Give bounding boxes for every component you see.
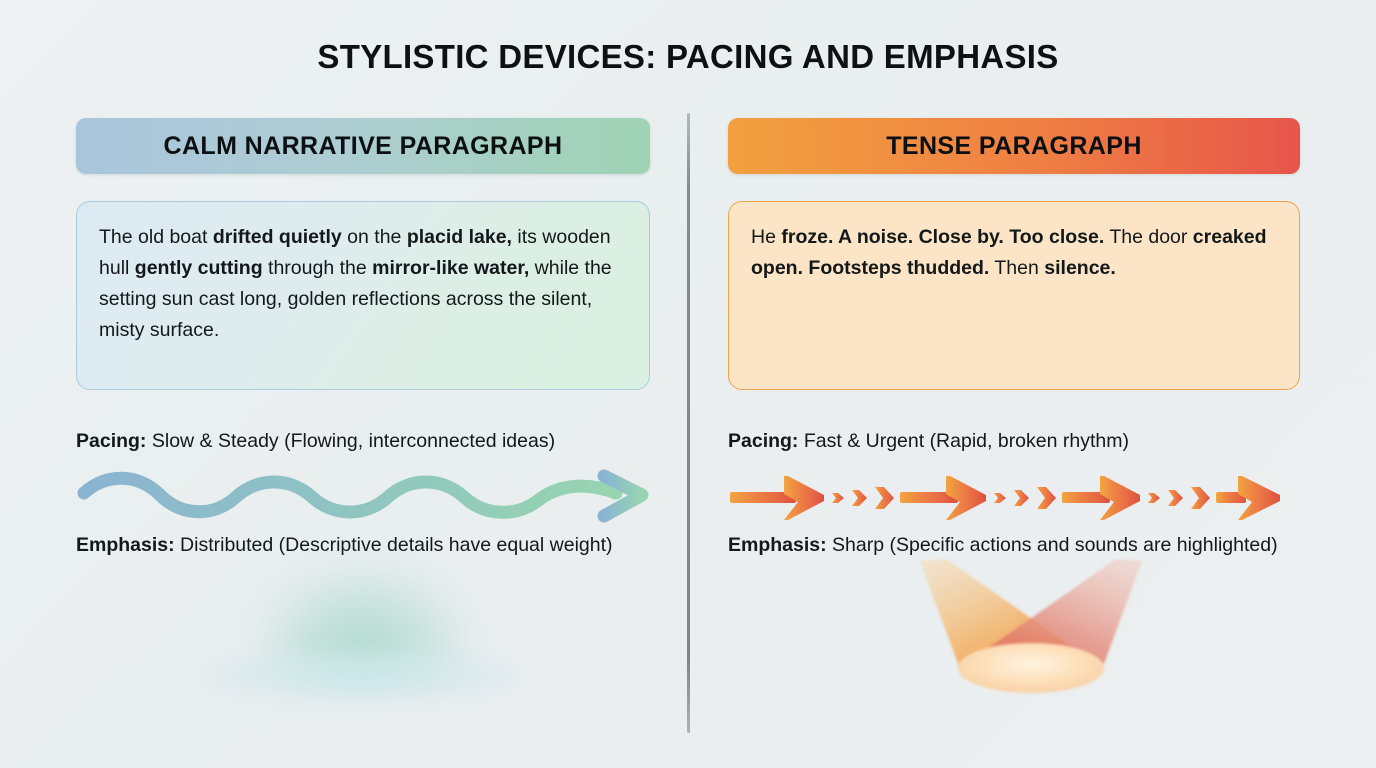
tense-banner: TENSE PARAGRAPH xyxy=(728,118,1300,174)
calm-pacing-label: Pacing: xyxy=(76,430,146,452)
calm-paragraph-text: The old boat drifted quietly on the plac… xyxy=(99,226,612,341)
staccato-arrows-icon xyxy=(728,468,1288,530)
calm-pacing-line: Pacing: Slow & Steady (Flowing, intercon… xyxy=(76,426,650,457)
tense-banner-label: TENSE PARAGRAPH xyxy=(886,132,1142,161)
calm-paragraph-box: The old boat drifted quietly on the plac… xyxy=(76,201,650,390)
emphasized-text: drifted quietly xyxy=(213,226,342,248)
emphasized-text: placid lake, xyxy=(407,226,512,248)
tense-pacing-value: Fast & Urgent (Rapid, broken rhythm) xyxy=(798,430,1129,452)
tense-column: TENSE PARAGRAPH He froze. A noise. Close… xyxy=(728,118,1300,704)
emphasized-text: silence. xyxy=(1044,257,1116,279)
column-divider xyxy=(687,113,690,733)
calm-emphasis-value: Distributed (Descriptive details have eq… xyxy=(175,534,613,556)
tense-paragraph-box: He froze. A noise. Close by. Too close. … xyxy=(728,201,1300,390)
plain-text: Then xyxy=(989,257,1044,279)
plain-text: through the xyxy=(263,257,373,279)
calm-emphasis-line: Emphasis: Distributed (Descriptive detai… xyxy=(76,530,650,561)
plain-text: He xyxy=(751,226,781,248)
calm-column: CALM NARRATIVE PARAGRAPH The old boat dr… xyxy=(76,118,650,704)
emphasized-text: mirror-like water, xyxy=(372,257,529,279)
plain-text: The old boat xyxy=(99,226,213,248)
spotlight-cones-icon xyxy=(906,553,1156,705)
tense-emphasis-graphic xyxy=(728,569,1300,704)
emphasized-text: froze. A noise. Close by. Too close. xyxy=(781,226,1104,248)
tense-pacing-graphic xyxy=(728,468,1300,530)
wave-arrow-icon xyxy=(76,468,650,530)
calm-pacing-value: Slow & Steady (Flowing, interconnected i… xyxy=(146,430,555,452)
tense-emphasis-label: Emphasis: xyxy=(728,534,827,556)
diffuse-glow-icon xyxy=(208,561,518,711)
calm-emphasis-graphic xyxy=(76,569,650,704)
tense-pacing-label: Pacing: xyxy=(728,430,798,452)
calm-emphasis-label: Emphasis: xyxy=(76,534,175,556)
glow-pool-shape xyxy=(208,649,518,703)
calm-pacing-graphic xyxy=(76,468,650,530)
calm-banner: CALM NARRATIVE PARAGRAPH xyxy=(76,118,650,174)
tense-pacing-line: Pacing: Fast & Urgent (Rapid, broken rhy… xyxy=(728,426,1300,457)
plain-text: on the xyxy=(342,226,407,248)
emphasized-text: gently cutting xyxy=(135,257,263,279)
calm-banner-label: CALM NARRATIVE PARAGRAPH xyxy=(164,132,563,161)
page-title: STYLISTIC DEVICES: PACING AND EMPHASIS xyxy=(0,38,1376,76)
plain-text: The door xyxy=(1104,226,1193,248)
tense-paragraph-text: He froze. A noise. Close by. Too close. … xyxy=(751,226,1267,279)
